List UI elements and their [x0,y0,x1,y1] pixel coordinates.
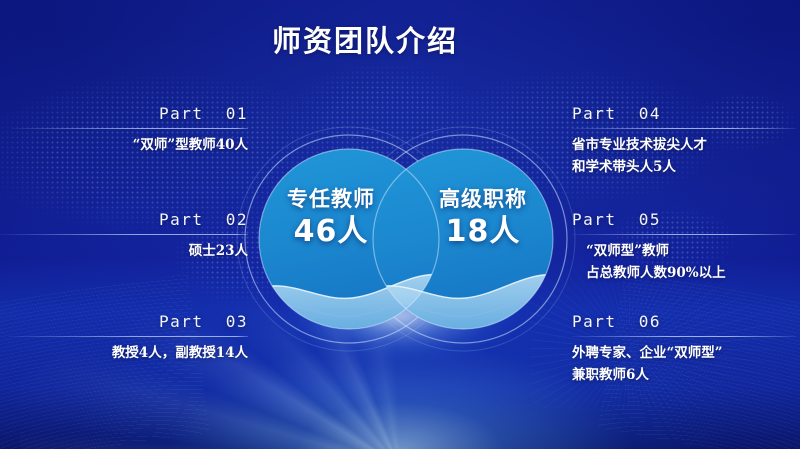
venn-diagram: 专任教师 46人 高级职称 18人 [236,126,576,352]
part-01-divider [12,128,248,129]
part-block-05[interactable]: Part 05 “双师型”教师 占总教师人数90%以上 [572,210,796,285]
part-05-line-1: “双师型”教师 [572,241,796,263]
part-block-01[interactable]: Part 01 “双师”型教师40人 [12,104,248,157]
part-02-line-1: 硕士23人 [0,241,248,263]
part-01-heading: Part 01 [12,104,248,123]
part-04-line-2: 和学术带头人5人 [572,157,796,179]
page-title: 师资团队介绍 [0,18,765,60]
part-block-03[interactable]: Part 03 教授4人，副教授14人 [8,312,248,365]
part-03-divider [8,336,248,337]
part-04-line-1: 省市专业技术拔尖人才 [572,135,796,157]
part-06-line-2: 兼职教师6人 [572,365,796,387]
part-04-divider [572,128,796,129]
part-06-heading: Part 06 [572,312,796,331]
part-04-heading: Part 04 [572,104,796,123]
part-block-02[interactable]: Part 02 硕士23人 [0,210,248,263]
part-05-divider [572,234,796,235]
part-03-line-1: 教授4人，副教授14人 [8,343,248,365]
part-06-line-1: 外聘专家、企业“双师型” [572,343,796,365]
venn-svg [236,126,576,352]
part-06-divider [572,336,796,337]
part-05-line-2: 占总教师人数90%以上 [572,263,796,285]
part-02-divider [0,234,248,235]
part-03-heading: Part 03 [8,312,248,331]
part-05-heading: Part 05 [572,210,796,229]
part-01-line-1: “双师”型教师40人 [12,135,248,157]
part-block-06[interactable]: Part 06 外聘专家、企业“双师型” 兼职教师6人 [572,312,796,387]
part-block-04[interactable]: Part 04 省市专业技术拔尖人才 和学术带头人5人 [572,104,796,179]
slide-canvas: 师资团队介绍 [0,0,800,449]
part-02-heading: Part 02 [0,210,248,229]
